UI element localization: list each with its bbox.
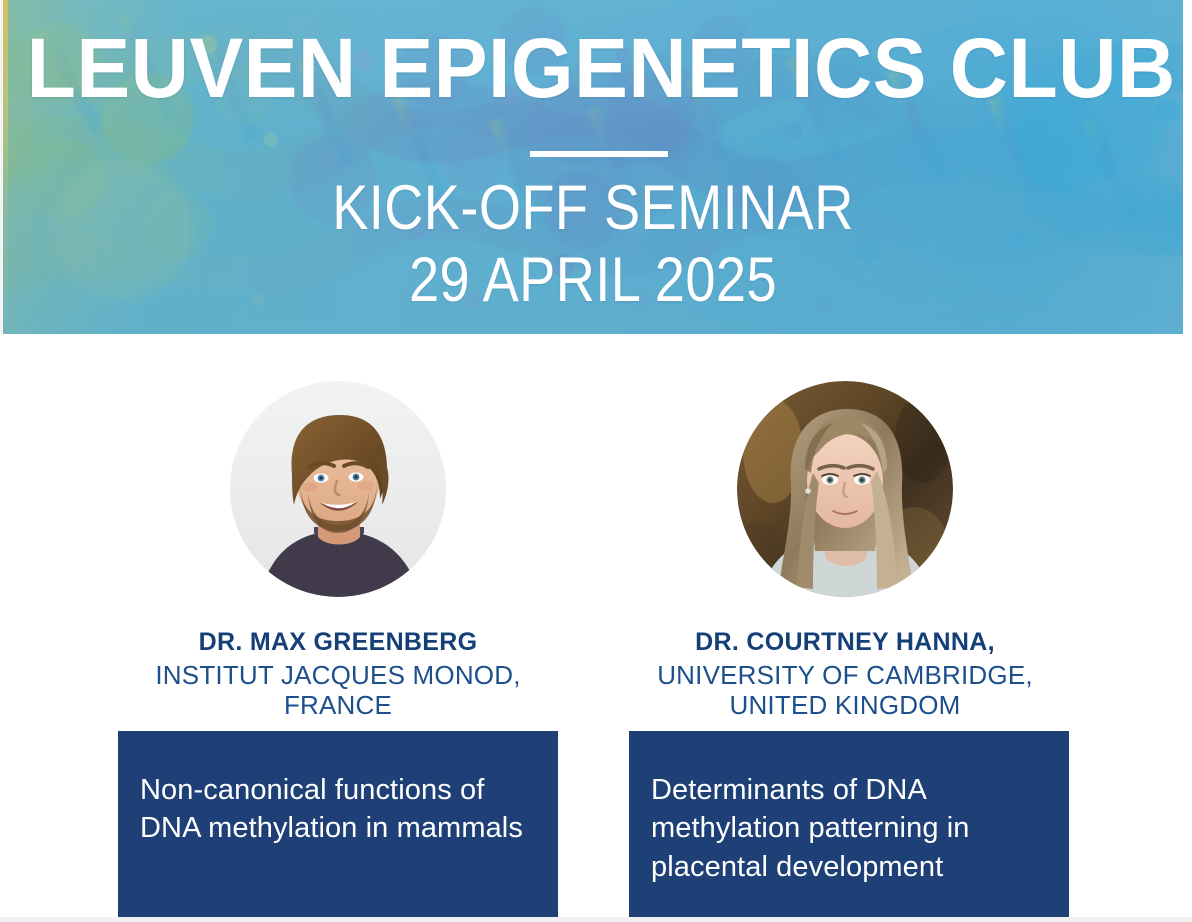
- event-date: 29 APRIL 2025: [86, 244, 1101, 316]
- speaker-name-1: DR. MAX GREENBERG: [78, 628, 598, 658]
- talk-title-1: Non-canonical functions of DNA methylati…: [140, 771, 536, 848]
- talk-title-box-2: Determinants of DNA methylation patterni…: [629, 731, 1069, 917]
- header-banner: LEUVEN EPIGENETICS CLUB KICK-OFF SEMINAR…: [3, 0, 1183, 334]
- speaker-name-2: DR. COURTNEY HANNA,: [585, 628, 1105, 658]
- talk-title-box-1: Non-canonical functions of DNA methylati…: [118, 731, 558, 917]
- portrait-photo-max-greenberg-icon: [230, 381, 446, 597]
- speakers-section: DR. MAX GREENBERG INSTITUT JACQUES MONOD…: [0, 334, 1192, 922]
- title-divider-rule: [530, 151, 668, 157]
- speaker-affiliation-2-line1: UNIVERSITY OF CAMBRIDGE,: [657, 660, 1033, 690]
- avatar: [737, 381, 953, 597]
- avatar: [230, 381, 446, 597]
- speaker-affiliation-2-line2: UNITED KINGDOM: [585, 690, 1105, 720]
- event-subtitle-line1: KICK-OFF SEMINAR: [332, 173, 854, 243]
- banner-left-edge-accent: [3, 0, 8, 334]
- poster-page: LEUVEN EPIGENETICS CLUB KICK-OFF SEMINAR…: [0, 0, 1192, 922]
- speaker-affiliation-1-line2: FRANCE: [78, 690, 598, 720]
- banner-left-gutter: [0, 0, 3, 334]
- portrait-photo-courtney-hanna-icon: [737, 381, 953, 597]
- event-subtitle: KICK-OFF SEMINAR 29 APRIL 2025: [86, 172, 1101, 317]
- page-title: LEUVEN EPIGENETICS CLUB: [27, 26, 1160, 110]
- speaker-affiliation-2: UNIVERSITY OF CAMBRIDGE, UNITED KINGDOM: [585, 660, 1105, 721]
- speaker-affiliation-1-line1: INSTITUT JACQUES MONOD,: [155, 660, 520, 690]
- banner-right-gutter: [1183, 0, 1192, 334]
- speaker-affiliation-1: INSTITUT JACQUES MONOD, FRANCE: [78, 660, 598, 721]
- speaker-card-1: DR. MAX GREENBERG INSTITUT JACQUES MONOD…: [78, 334, 598, 922]
- talk-title-2: Determinants of DNA methylation patterni…: [651, 771, 1047, 886]
- speaker-card-2: DR. COURTNEY HANNA, UNIVERSITY OF CAMBRI…: [585, 334, 1105, 922]
- page-bottom-strip: [0, 917, 1192, 922]
